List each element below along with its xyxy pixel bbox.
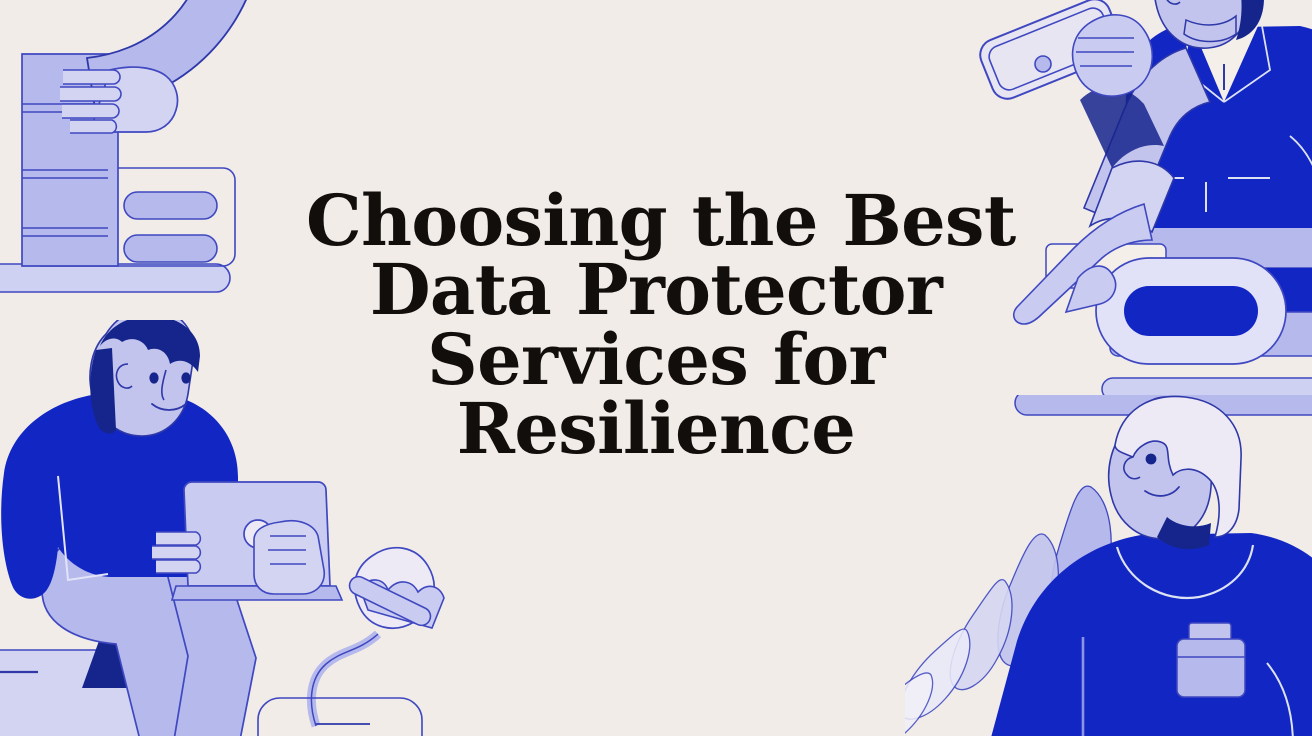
title-line-4: Resilience [306, 394, 1006, 463]
hero-title-block: Choosing the Best Data Protector Service… [306, 186, 1006, 463]
title-line-2: Data Protector [306, 255, 1006, 324]
page-title: Choosing the Best Data Protector Service… [306, 186, 1006, 463]
hero-banner: Choosing the Best Data Protector Service… [0, 0, 1312, 736]
title-line-3: Services for [306, 325, 1006, 394]
title-line-1: Choosing the Best [306, 186, 1006, 255]
